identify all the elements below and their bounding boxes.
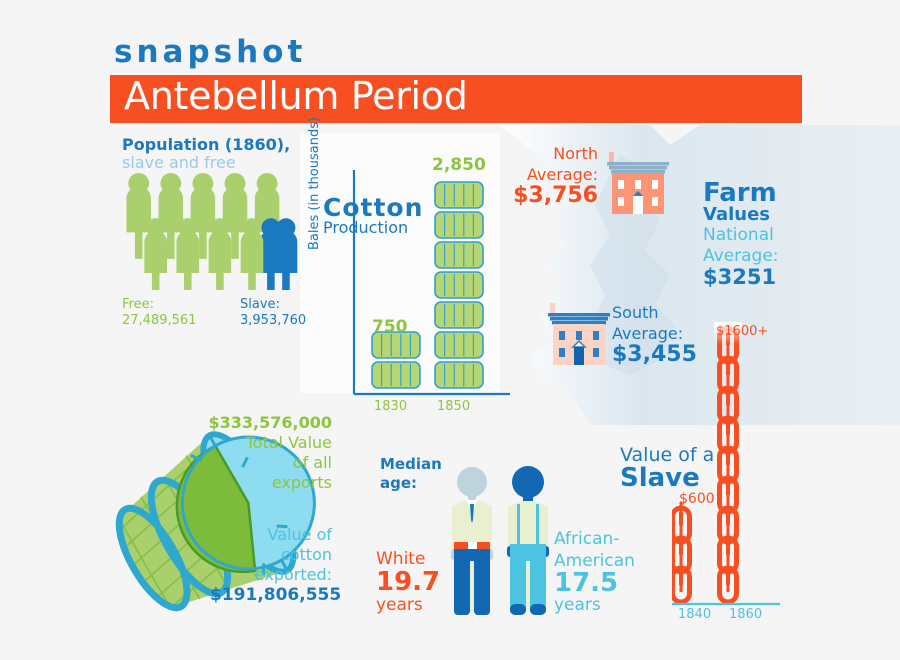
population-heading-line1: Population (1860),	[122, 136, 290, 154]
cotton-export-label: Value of cotton exported: $191,806,555	[210, 525, 332, 605]
cotton-bar-1830	[372, 332, 420, 388]
cotton-bar-1850	[435, 182, 483, 388]
figure-african-american	[507, 466, 549, 615]
slave-value-chain-chart	[672, 322, 792, 612]
south-house-icon	[544, 303, 614, 365]
population-heading: Population (1860), slave and free	[122, 136, 290, 172]
slave-value-1840: $600	[679, 491, 715, 507]
white-median-value: 19.7	[376, 571, 440, 594]
slave-year-1860: 1860	[729, 607, 762, 622]
farm-title-line1: Farm	[703, 183, 779, 204]
exports-total-line1: Total Value	[190, 433, 332, 453]
median-age-label: Median age:	[380, 455, 442, 493]
slave-value-1860: $1600+	[716, 324, 768, 339]
north-label-line2: Average:	[508, 164, 598, 185]
cotton-export-value: $191,806,555	[210, 585, 332, 605]
population-slave-value: 3,953,760	[240, 313, 306, 329]
north-label-line1: North	[508, 143, 598, 164]
chain-1840	[673, 502, 690, 602]
population-free-value: 27,489,561	[122, 313, 196, 329]
population-people-icons	[118, 172, 318, 290]
white-median-age: White 19.7 years	[376, 548, 440, 617]
exports-total-label: $333,576,000 Total Value of all exports	[190, 413, 332, 493]
population-free-legend: Free: 27,489,561	[122, 297, 196, 329]
african-american-median-age: African- American 17.5 years	[554, 528, 635, 616]
cotton-export-line1: Value of	[210, 525, 332, 545]
median-age-line2: age:	[380, 474, 442, 493]
median-age-figures	[440, 466, 560, 626]
north-average-value: $3,756	[508, 185, 598, 206]
population-slave-legend: Slave: 3,953,760	[240, 297, 306, 329]
cotton-export-line2: cotton	[210, 545, 332, 565]
cotton-export-line3: exported:	[210, 565, 332, 585]
cotton-value-1830: 750	[372, 317, 408, 337]
population-icon-slave	[275, 218, 298, 290]
north-house-icon	[603, 152, 673, 214]
slave-year-1840: 1840	[678, 607, 711, 622]
aa-median-value: 17.5	[554, 572, 635, 594]
farm-national-line2: Average:	[703, 246, 779, 267]
aa-median-unit: years	[554, 594, 635, 616]
population-slave-label: Slave:	[240, 297, 306, 313]
farm-national-value: $3251	[703, 267, 779, 288]
exports-total-line3: exports	[190, 473, 332, 493]
exports-total-value: $333,576,000	[190, 413, 332, 433]
figure-white	[451, 467, 493, 615]
infographic-canvas: snapshot Antebellum Period Population (1…	[0, 0, 900, 660]
cotton-year-1850: 1850	[437, 399, 470, 414]
white-median-unit: years	[376, 594, 440, 617]
exports-total-line2: of all	[190, 453, 332, 473]
farm-title-line2: Values	[703, 204, 779, 225]
chain-1860	[714, 322, 742, 602]
cotton-year-1830: 1830	[374, 399, 407, 414]
population-free-label: Free:	[122, 297, 196, 313]
median-age-line1: Median	[380, 455, 442, 474]
farm-national-line1: National	[703, 225, 779, 246]
snapshot-kicker: snapshot	[114, 34, 306, 70]
north-average-label: North Average: $3,756	[508, 143, 598, 206]
aa-label-line1: African-	[554, 528, 635, 550]
farm-values-block: Farm Values National Average: $3251	[703, 183, 779, 288]
population-heading-line2: slave and free	[122, 154, 290, 172]
cotton-bale-chart	[340, 150, 510, 400]
cotton-value-1850: 2,850	[432, 155, 486, 175]
south-label-line1: South	[612, 302, 697, 323]
cotton-y-axis-label: Bales (in thousands)	[307, 117, 322, 250]
page-title: Antebellum Period	[124, 74, 468, 118]
